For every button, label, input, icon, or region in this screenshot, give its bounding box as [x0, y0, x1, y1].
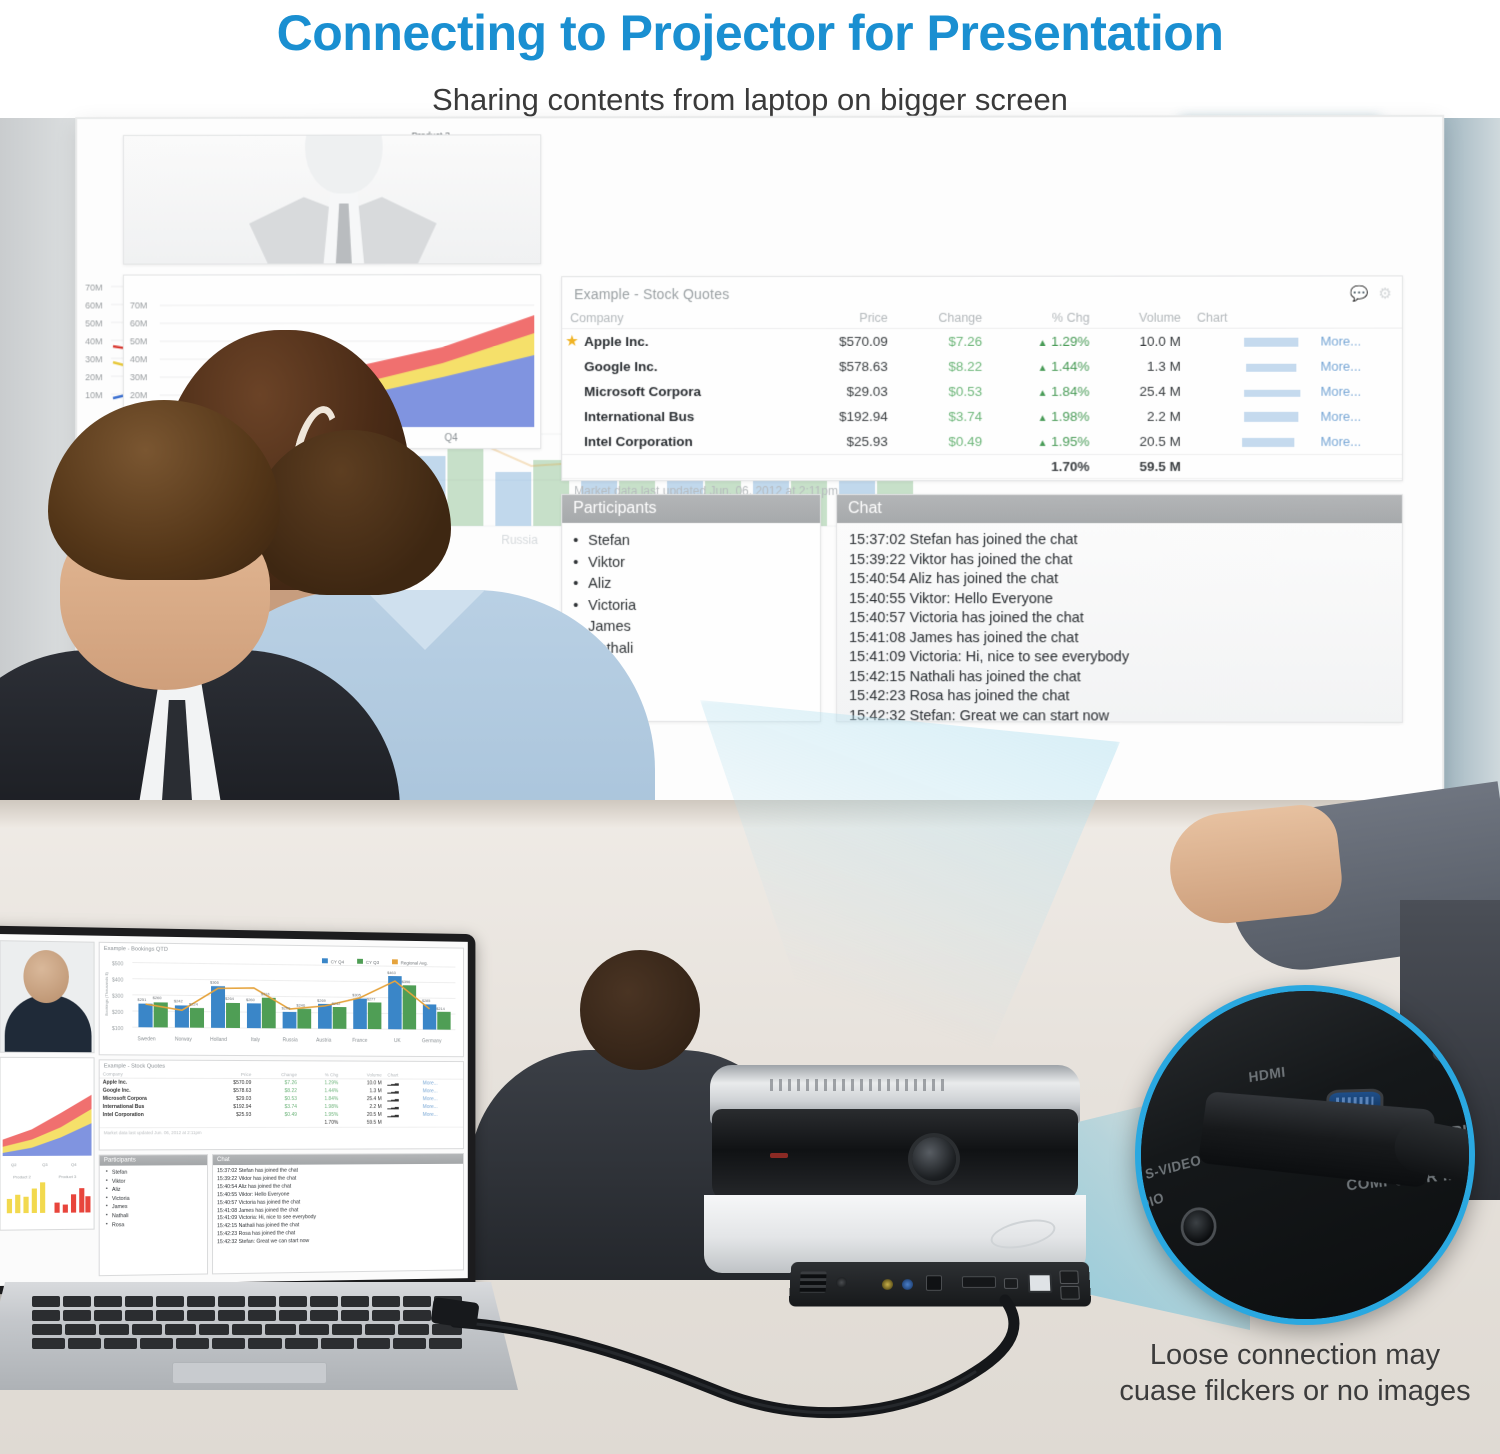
table-row: International Bus $192.94 $3.74 1.98% 2.…	[100, 1103, 463, 1111]
person-man-suit-front	[0, 400, 400, 820]
more-link[interactable]: More...	[420, 1087, 463, 1095]
chat-line: 15:41:08 James has joined the chat	[849, 629, 1390, 649]
svg-text:Holland: Holland	[210, 1037, 227, 1043]
star-icon[interactable]: ★	[566, 333, 578, 349]
hdmi-label: HDMI	[1248, 1064, 1286, 1086]
svg-text:$260: $260	[246, 997, 256, 1002]
laptop-video-feed	[0, 940, 95, 1053]
chat-line: 15:42:15 Nathali has joined the chat	[849, 668, 1390, 688]
cell-change: $8.22	[896, 354, 990, 379]
cell-pct: 1.44%	[1051, 359, 1089, 374]
s-video-port[interactable]	[1180, 1207, 1217, 1246]
chat-panel: Chat 15:37:02 Stefan has joined the chat…	[836, 494, 1403, 723]
cell-price: $578.63	[794, 354, 896, 379]
svg-text:$224: $224	[189, 1002, 199, 1007]
svg-text:Q2: Q2	[11, 1162, 17, 1167]
cell-change: $8.22	[254, 1087, 300, 1095]
usb-port-1[interactable]	[1059, 1270, 1079, 1284]
sparkline-icon: ▁▂▃	[385, 1079, 420, 1087]
table-row: ★Apple Inc. $570.09 $7.26 ▲ 1.29% 10.0 M…	[562, 328, 1402, 354]
col-pct: % Chg	[300, 1071, 341, 1079]
table-row: Microsoft Corpora $29.03 $0.53 1.84% 25.…	[100, 1095, 463, 1103]
col-price: Price	[794, 308, 896, 329]
cell-price: $192.94	[794, 404, 896, 429]
svg-text:$396: $396	[402, 979, 411, 984]
svg-text:$214: $214	[436, 1006, 445, 1011]
svg-text:Austria: Austria	[316, 1038, 331, 1044]
cell-change: $3.74	[254, 1103, 300, 1111]
projector-vents	[770, 1079, 950, 1091]
port-closeup-inset: HDMI S-VIDEO VIDEO COMPUTER IN2 COMPUTER…	[1135, 985, 1475, 1325]
gear-icon[interactable]: ⚙	[1378, 284, 1392, 302]
svg-text:Italy: Italy	[251, 1037, 261, 1043]
projector-front-glass	[712, 1109, 1078, 1201]
cell-company: International Bus	[584, 409, 694, 424]
power-port[interactable]	[799, 1271, 826, 1292]
laptop-charts-panel: Q2Q3Q4 Product 2Product 3	[0, 1057, 95, 1231]
cell-company: Apple Inc.	[584, 334, 648, 349]
svg-text:50M: 50M	[85, 318, 102, 328]
projector-rear-ports	[789, 1262, 1092, 1307]
chat-line: 15:42:23 Rosa has joined the chat	[849, 687, 1390, 707]
cell-price: $578.63	[204, 1087, 254, 1095]
vga-port[interactable]	[926, 1275, 942, 1291]
col-change: Change	[896, 308, 990, 329]
chat-log: 15:37:02 Stefan has joined the chat 15:3…	[837, 523, 1402, 722]
col-change: Change	[254, 1071, 300, 1079]
total-volume: 59.5 M	[1098, 454, 1189, 478]
more-link[interactable]: More...	[420, 1111, 463, 1119]
svg-text:$305: $305	[352, 992, 361, 997]
svg-text:70M: 70M	[130, 300, 147, 310]
sparkline-icon: ▁▂▃	[385, 1087, 420, 1095]
cell-volume: 20.5 M	[341, 1111, 384, 1119]
cell-pct: 1.29%	[300, 1079, 341, 1088]
comment-icon[interactable]: 💬	[1350, 284, 1369, 302]
antenna-port[interactable]	[836, 1277, 847, 1288]
stock-quotes-panel: Example - Stock Quotes 💬 ⚙ Company Price…	[561, 275, 1403, 481]
cell-pct: 1.98%	[1051, 409, 1089, 424]
chat-line: 15:37:02 Stefan has joined the chat	[849, 531, 1390, 551]
cell-volume: 25.4 M	[1098, 379, 1189, 404]
cell-company: Google Inc.	[100, 1087, 204, 1095]
laptop-chat-panel: Chat 15:37:02 Stefan has joined the chat…	[212, 1153, 464, 1274]
projector	[690, 1065, 1090, 1280]
remote-participant-image	[243, 145, 442, 264]
projector-status-led	[770, 1153, 788, 1158]
table-row: Intel Corporation $25.93 $0.49 ▲ 1.95% 2…	[562, 429, 1402, 455]
col-volume: Volume	[1098, 308, 1189, 329]
cell-company: Microsoft Corpora	[100, 1095, 204, 1103]
up-triangle-icon: ▲	[1038, 438, 1048, 449]
total-pct: 1.70%	[300, 1119, 341, 1127]
svg-text:$264: $264	[225, 996, 235, 1001]
cell-price: $192.94	[204, 1103, 254, 1111]
svg-text:Product 2: Product 2	[13, 1174, 32, 1179]
sparkline-icon	[1242, 433, 1304, 447]
svg-text:$251: $251	[137, 997, 147, 1002]
sparkline-icon: ▁▂▃	[385, 1095, 420, 1103]
projector-logo	[988, 1214, 1058, 1253]
svg-text:$400: $400	[112, 977, 124, 983]
table-row: Google Inc. $578.63 $8.22 ▲ 1.44% 1.3 M …	[562, 354, 1402, 379]
col-company: Company	[562, 308, 793, 329]
cell-price: $570.09	[794, 328, 896, 354]
ethernet-port[interactable]	[1028, 1273, 1053, 1292]
more-link[interactable]: More...	[1320, 359, 1361, 374]
svg-text:10M: 10M	[85, 390, 102, 400]
cell-change: $0.49	[254, 1111, 300, 1119]
cell-change: $0.53	[254, 1095, 300, 1103]
caption-line-2: cuase filckers or no images	[1090, 1373, 1500, 1409]
up-triangle-icon: ▲	[1038, 363, 1048, 374]
cell-price: $29.03	[204, 1095, 254, 1103]
cell-change: $0.53	[896, 379, 990, 404]
cell-volume: 10.0 M	[341, 1079, 384, 1088]
more-link[interactable]: More...	[420, 1103, 463, 1111]
up-triangle-icon: ▲	[1038, 388, 1048, 399]
page-title: Connecting to Projector for Presentation	[0, 4, 1500, 62]
stock-panel-title: Example - Stock Quotes	[562, 276, 1402, 308]
sd-card-slot[interactable]	[1004, 1278, 1018, 1289]
col-volume: Volume	[341, 1071, 384, 1079]
cell-price: $25.93	[204, 1111, 254, 1119]
svg-text:Q4: Q4	[71, 1162, 77, 1167]
svg-text:$260: $260	[153, 995, 163, 1000]
svg-text:60M: 60M	[130, 318, 147, 328]
laptop-participants-title: Participants	[100, 1155, 207, 1166]
cell-price: $25.93	[794, 429, 896, 455]
caption-line-1: Loose connection may	[1090, 1337, 1500, 1373]
col-chart: Chart	[1189, 308, 1312, 329]
chat-line: 15:40:55 Viktor: Hello Everyone	[849, 590, 1390, 610]
laptop-screen: Q2Q3Q4 Product 2Product 3	[0, 934, 468, 1286]
svg-text:Bookings (Thousands $): Bookings (Thousands $)	[104, 971, 109, 1016]
chat-line: 15:39:22 Viktor has joined the chat	[849, 551, 1390, 571]
svg-text:40M: 40M	[85, 336, 102, 346]
cell-change: $3.74	[896, 404, 990, 429]
cell-company: Apple Inc.	[100, 1078, 204, 1087]
svg-text:Norway: Norway	[175, 1037, 193, 1043]
more-link[interactable]: More...	[1320, 384, 1361, 399]
vga-port-in1[interactable]	[1433, 1034, 1475, 1063]
svg-text:$300: $300	[112, 994, 124, 1000]
svg-text:$285: $285	[422, 998, 431, 1003]
svg-text:CY Q3: CY Q3	[366, 960, 380, 965]
svg-text:Product 3: Product 3	[59, 1174, 77, 1179]
laptop-chat-log: 15:37:02 Stefan has joined the chat 15:3…	[213, 1164, 463, 1248]
table-row: Microsoft Corpora $29.03 $0.53 ▲ 1.84% 2…	[562, 379, 1402, 404]
projector-port-panel-closeup: HDMI S-VIDEO VIDEO COMPUTER IN2 COMPUTER…	[1135, 985, 1475, 1325]
cell-company: Intel Corporation	[100, 1111, 204, 1119]
sparkline-icon	[1242, 358, 1304, 372]
cell-company: Microsoft Corpora	[584, 384, 701, 399]
chat-line: 15:40:54 Aliz has joined the chat	[849, 570, 1390, 590]
svg-text:60M: 60M	[85, 300, 102, 310]
sparkline-icon	[1242, 333, 1304, 347]
usb-port-2[interactable]	[1060, 1286, 1080, 1300]
laptop-trackpad[interactable]	[172, 1362, 327, 1384]
laptop-keyboard[interactable]	[32, 1296, 462, 1358]
svg-text:$200: $200	[112, 1010, 124, 1016]
warning-caption: Loose connection may cuase filckers or n…	[1090, 1337, 1500, 1409]
sparkline-icon: ▁▂▃	[385, 1111, 420, 1119]
cell-pct: 1.84%	[300, 1095, 341, 1103]
svg-text:30M: 30M	[85, 354, 102, 364]
svg-text:Germany: Germany	[422, 1038, 442, 1044]
panel-header-icons: 💬 ⚙	[1350, 284, 1391, 302]
cell-company: International Bus	[100, 1103, 204, 1111]
chat-line: 15:40:57 Victoria has joined the chat	[849, 609, 1390, 629]
table-row: International Bus $192.94 $3.74 ▲ 1.98% …	[562, 404, 1402, 429]
projector-lens	[912, 1137, 956, 1181]
svg-text:70M: 70M	[85, 283, 102, 293]
sparkline-icon	[1242, 383, 1304, 397]
svg-text:$242: $242	[332, 1001, 341, 1006]
sparkline-icon	[1242, 408, 1304, 422]
cell-company: Google Inc.	[584, 359, 657, 374]
cell-pct: 1.95%	[300, 1111, 341, 1119]
table-total-row: 1.70% 59.5 M	[562, 454, 1402, 478]
svg-text:Regional Avg.: Regional Avg.	[401, 960, 428, 965]
page-subtitle: Sharing contents from laptop on bigger s…	[0, 82, 1500, 118]
svg-text:$100: $100	[112, 1026, 124, 1032]
svg-text:France: France	[352, 1038, 367, 1044]
cell-change: $7.26	[254, 1079, 300, 1088]
laptop-stock-footer: Market data last updated Jun. 06, 2012 a…	[100, 1127, 463, 1138]
up-triangle-icon: ▲	[1038, 413, 1048, 424]
svg-text:Russia: Russia	[283, 1037, 298, 1043]
svg-text:$463: $463	[387, 970, 396, 975]
audio-in-port[interactable]	[902, 1279, 913, 1290]
cell-pct: 1.95%	[1051, 434, 1089, 449]
svg-text:Q3: Q3	[42, 1162, 48, 1167]
cell-volume: 1.3 M	[1098, 354, 1189, 379]
cell-volume: 2.2 M	[1098, 404, 1189, 429]
svg-text:UK: UK	[394, 1038, 401, 1044]
col-actions	[1312, 308, 1402, 329]
chat-title: Chat	[837, 495, 1402, 523]
svg-text:$366: $366	[210, 980, 220, 985]
chat-line: 15:41:09 Victoria: Hi, nice to see every…	[849, 648, 1390, 668]
svg-text:$242: $242	[174, 998, 184, 1003]
laptop-stock-table: Company Price Change % Chg Volume Chart …	[100, 1070, 463, 1127]
svg-text:$277: $277	[367, 996, 376, 1001]
more-link[interactable]: More...	[1320, 334, 1361, 349]
svg-text:$246: $246	[296, 1003, 305, 1008]
col-pct: % Chg	[990, 308, 1097, 329]
hdmi-port[interactable]	[962, 1276, 996, 1288]
laptop-participants-list: Stefan Viktor Aliz Victoria James Nathal…	[100, 1165, 207, 1230]
more-link[interactable]: More...	[1320, 409, 1361, 424]
svg-text:$269: $269	[317, 998, 326, 1003]
sparkline-icon: ▁▂▃	[385, 1103, 420, 1111]
scene-root: Connecting to Projector for Presentation…	[0, 0, 1500, 1454]
cell-price: $570.09	[204, 1078, 254, 1087]
svg-text:$209: $209	[282, 1005, 292, 1010]
cell-volume: 10.0 M	[1098, 328, 1189, 354]
stock-table-header: Company Price Change % Chg Volume Chart	[562, 308, 1402, 329]
svg-text:CY Q4: CY Q4	[331, 959, 345, 964]
total-volume: 59.5 M	[341, 1119, 384, 1127]
cell-change: $7.26	[896, 328, 990, 354]
cell-volume: 25.4 M	[341, 1095, 384, 1103]
laptop-lid: Q2Q3Q4 Product 2Product 3	[0, 926, 475, 1295]
hdmi-cable-strain-relief	[1390, 1117, 1475, 1215]
up-triangle-icon: ▲	[1038, 338, 1048, 349]
cell-pct: 1.44%	[300, 1087, 341, 1095]
svg-text:20M: 20M	[85, 372, 102, 382]
svg-text:$500: $500	[112, 961, 124, 967]
laptop: Q2Q3Q4 Product 2Product 3	[0, 930, 502, 1450]
laptop-bookings-chart: Example - Bookings QTD $500$400$300 $200…	[99, 942, 464, 1057]
cell-volume: 2.2 M	[341, 1103, 384, 1111]
cell-price: $29.03	[794, 379, 896, 404]
cell-pct: 1.84%	[1051, 384, 1089, 399]
svg-text:Sweden: Sweden	[137, 1036, 155, 1042]
stock-table: Company Price Change % Chg Volume Chart …	[562, 308, 1402, 479]
more-link[interactable]: More...	[420, 1079, 463, 1087]
laptop-participants-panel: Participants Stefan Viktor Aliz Victoria…	[99, 1154, 208, 1276]
more-link[interactable]: More...	[420, 1095, 463, 1103]
list-item: Rosa	[112, 1220, 204, 1230]
cell-volume: 1.3 M	[341, 1087, 384, 1095]
cell-pct: 1.29%	[1051, 334, 1089, 349]
svg-text:$316: $316	[261, 991, 271, 996]
laptop-stock-panel: Example - Stock Quotes Company Price Cha…	[99, 1059, 464, 1150]
cell-pct: 1.98%	[300, 1103, 341, 1111]
more-link[interactable]: More...	[1320, 434, 1361, 449]
cell-volume: 20.5 M	[1098, 429, 1189, 455]
s-video-label: S-VIDEO	[1144, 1152, 1203, 1182]
col-price: Price	[204, 1071, 254, 1079]
col-chart: Chart	[385, 1072, 420, 1080]
audio-out-port[interactable]	[882, 1279, 893, 1290]
total-pct: 1.70%	[990, 454, 1097, 478]
cell-change: $0.49	[896, 429, 990, 455]
video-conference-feed	[123, 134, 541, 264]
